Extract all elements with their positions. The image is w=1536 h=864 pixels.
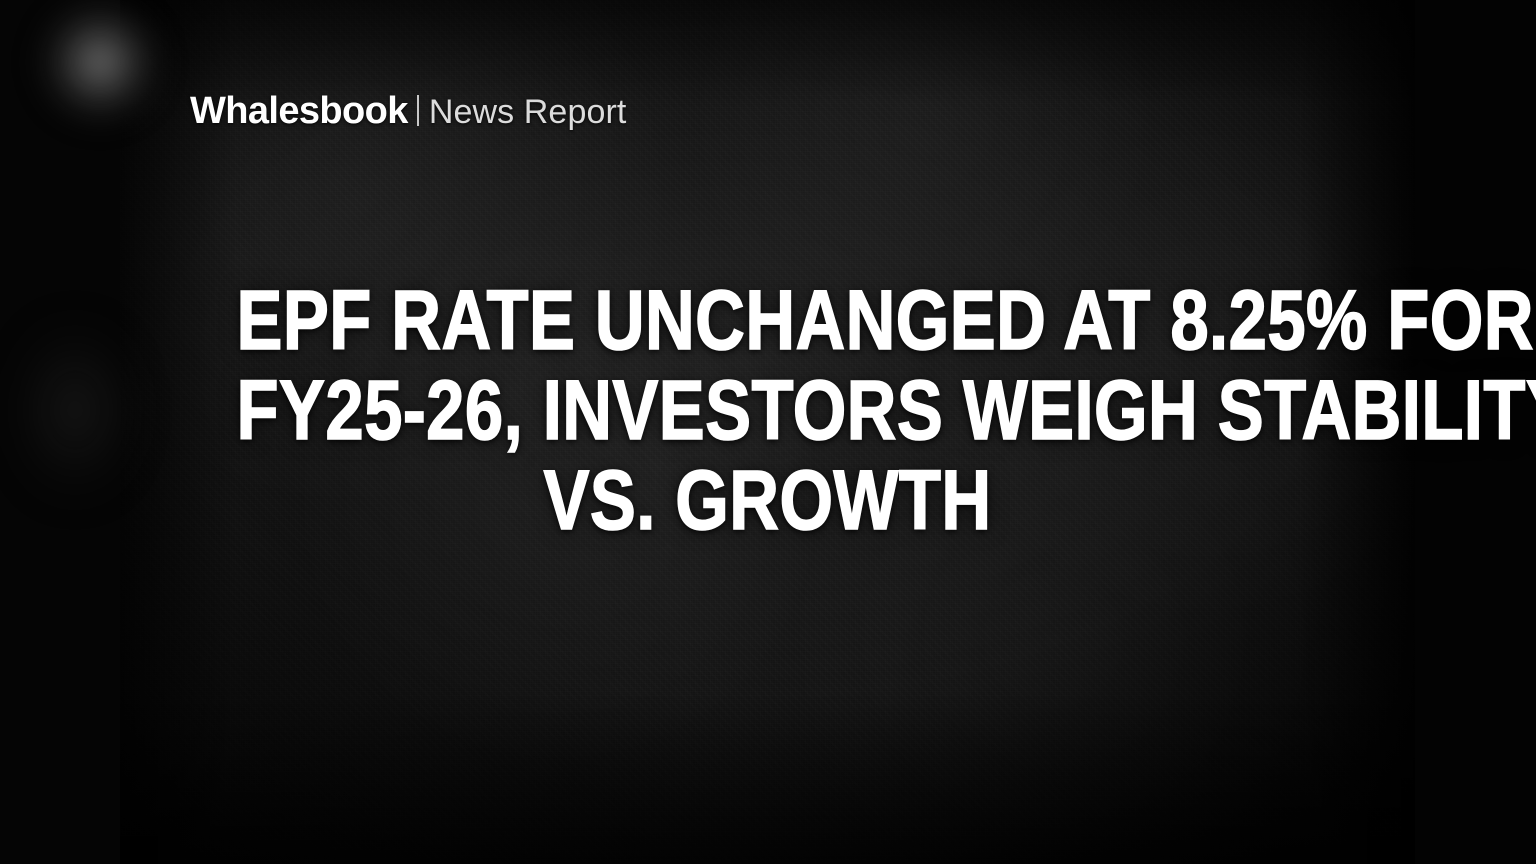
brand-divider	[417, 95, 419, 126]
news-report-card: Whalesbook News Report EPF RATE UNCHANGE…	[0, 0, 1536, 864]
headline-line-3: VS. GROWTH	[237, 455, 1299, 545]
brand-lockup: Whalesbook News Report	[190, 92, 626, 130]
content-layer: Whalesbook News Report EPF RATE UNCHANGE…	[120, 0, 1415, 864]
brand-name: Whalesbook	[190, 92, 408, 130]
brand-kicker: News Report	[429, 95, 627, 129]
headline-line-1: EPF RATE UNCHANGED AT 8.25% FOR	[237, 275, 1299, 365]
headline-line-2: FY25-26, INVESTORS WEIGH STABILITY	[237, 365, 1299, 455]
headline: EPF RATE UNCHANGED AT 8.25% FOR FY25-26,…	[120, 275, 1415, 545]
letterbox-left	[0, 0, 120, 864]
